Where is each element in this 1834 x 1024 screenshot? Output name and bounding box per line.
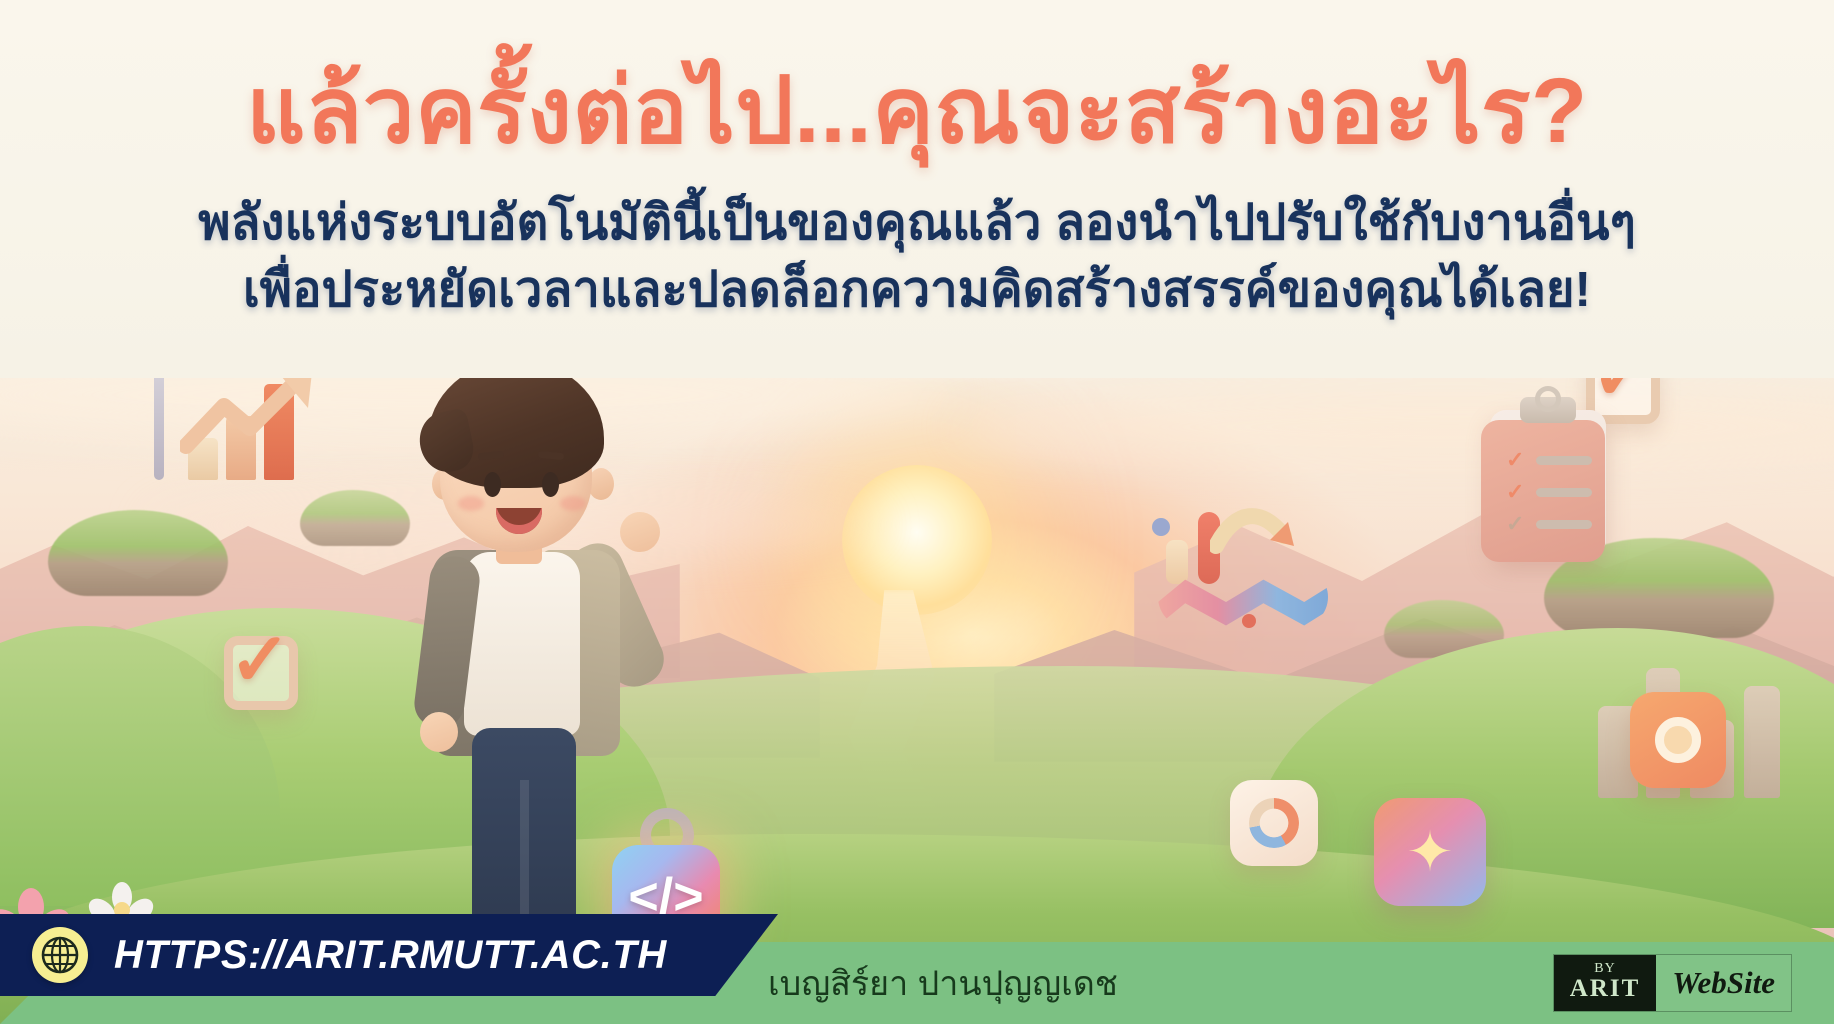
character-left-hand [420,712,458,752]
logo-arit-block: BY ARIT [1554,955,1657,1011]
website-url[interactable]: HTTPS://ARIT.RMUTT.AC.TH [114,933,667,978]
presenter-name: เบญสิร์ยา ปานปุญญเดช [768,942,1118,1024]
sparkle-star-icon: ✦ [1374,798,1486,906]
doodle-arrow-icon [1210,502,1320,562]
character-right-hand [620,512,660,552]
logo-website-label: WebSite [1656,955,1791,1011]
pie-chart-icon [1230,780,1318,866]
clipboard-checklist-icon: ✓ ✓ ✓ [1490,410,1606,556]
stats-doodle-icon [1158,508,1348,628]
url-banner: HTTPS://ARIT.RMUTT.AC.TH [0,914,778,996]
pie-ring [1249,798,1299,848]
clipboard-line [1536,456,1592,465]
3d-boy-character [392,360,652,1000]
footer-bar: เบญสิร์ยา ปานปุญญเดช HTTPS://ARIT.RMUTT.… [0,914,1834,1024]
target-ring [1655,717,1701,763]
sun [842,465,992,615]
clipboard-line [1536,488,1592,497]
clipboard-line [1536,520,1592,529]
character-hair [428,360,604,488]
clipboard-clip [1520,397,1576,423]
page-title: แล้วครั้งต่อไป...คุณจะสร้างอะไร? [0,62,1834,161]
doodle-dot [1242,614,1256,628]
globe-icon [32,927,88,983]
target-icon [1630,692,1726,788]
checkbox-check-icon: ✓ [224,636,298,710]
city-block [1744,686,1780,798]
subtitle-line-1: พลังแห่งระบบอัตโนมัตินี้เป็นของคุณแล้ว ล… [0,191,1834,256]
logo-arit-label: ARIT [1570,976,1641,1002]
clipboard-row: ✓ [1506,450,1592,470]
character-eye-left [484,472,501,497]
check-glyph: ✓ [1506,450,1526,470]
doodle-dot [1152,518,1170,536]
character-cheek-right [560,496,586,511]
subtitle-line-2: เพื่อประหยัดเวลาและปลดล็อกความคิดสร้างสร… [0,258,1834,323]
header-text-block: แล้วครั้งต่อไป...คุณจะสร้างอะไร? พลังแห่… [0,0,1834,378]
check-glyph: ✓ [229,623,291,697]
slide-canvas: ✓ ✓ ✓ ✓ ✓ [0,0,1834,1024]
clipboard-row: ✓ [1506,482,1592,502]
sparkle-glyph: ✦ [1407,824,1454,880]
character-legs [472,728,576,938]
character-eye-right [542,472,559,497]
arit-website-logo: BY ARIT WebSite [1553,954,1792,1012]
clipboard-row: ✓ [1506,514,1592,534]
character-cheek-left [458,496,484,511]
check-glyph: ✓ [1506,482,1526,502]
logo-by-label: BY [1594,962,1615,976]
check-glyph: ✓ [1506,514,1526,534]
doodle-bar [1166,540,1188,584]
character-shirt [464,552,580,736]
